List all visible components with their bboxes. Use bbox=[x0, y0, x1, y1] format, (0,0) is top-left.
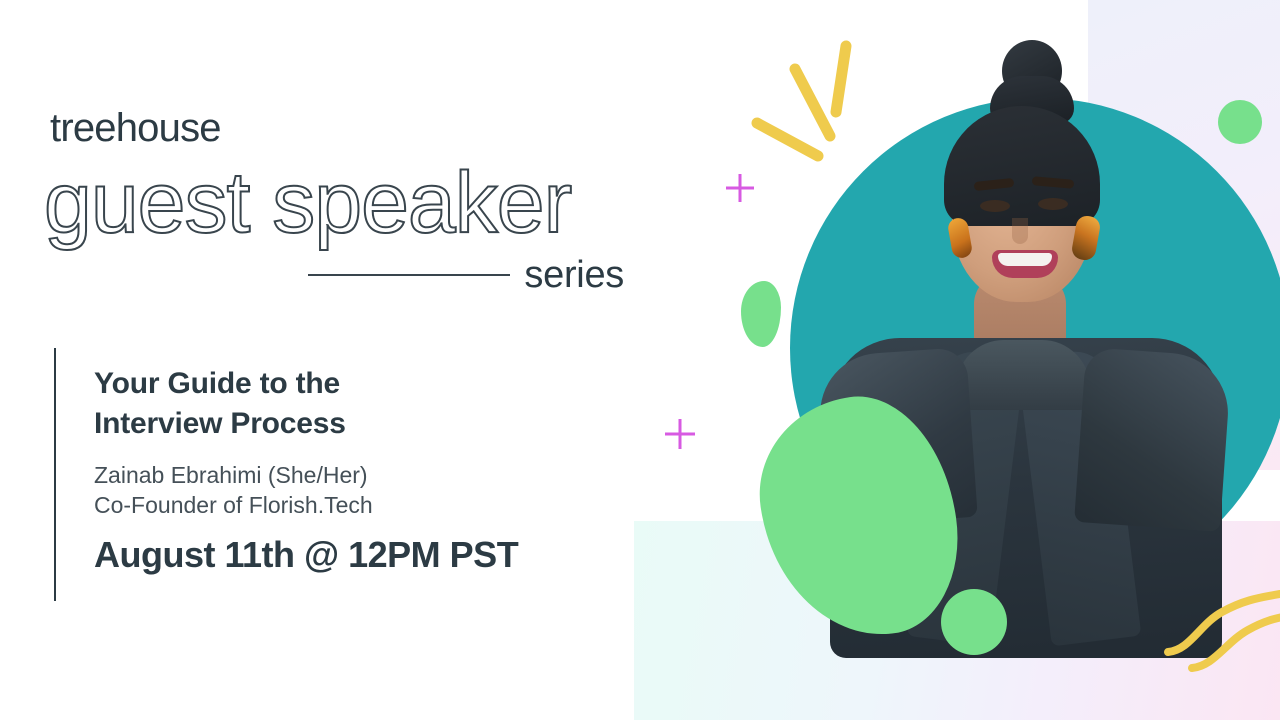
talk-title: Your Guide to the Interview Process bbox=[94, 364, 634, 443]
jacket-shoulder-right bbox=[1074, 347, 1232, 532]
plus-bar-vertical bbox=[679, 419, 682, 449]
eye-right bbox=[1038, 198, 1068, 210]
yellow-squiggle-icon bbox=[1160, 580, 1280, 690]
event-detail-block: Your Guide to the Interview Process Zain… bbox=[54, 348, 634, 601]
treehouse-wordmark: treehouse bbox=[50, 108, 221, 148]
guest-speaker-headline: guest speaker bbox=[44, 160, 571, 246]
green-circle-small-icon bbox=[941, 589, 1007, 655]
magenta-plus-icon bbox=[665, 419, 695, 449]
yellow-sparkle-icon bbox=[740, 30, 900, 190]
teeth bbox=[998, 253, 1052, 266]
eye-left bbox=[980, 200, 1010, 212]
nose bbox=[1012, 218, 1028, 244]
event-datetime: August 11th @ 12PM PST bbox=[94, 535, 634, 575]
green-circle-top-right-icon bbox=[1218, 100, 1262, 144]
series-divider-rule bbox=[308, 274, 510, 276]
green-bean-blob-small-icon bbox=[741, 281, 781, 347]
speaker-role: Co-Founder of Florish.Tech bbox=[94, 491, 634, 521]
speaker-name: Zainab Ebrahimi (She/Her) bbox=[94, 461, 634, 491]
jacket-collar bbox=[956, 340, 1090, 410]
series-row: series bbox=[308, 252, 624, 298]
series-label: series bbox=[524, 256, 624, 294]
guest-speaker-promo-slide: treehouse guest speaker series Your Guid… bbox=[0, 0, 1280, 720]
hair bbox=[944, 106, 1100, 226]
